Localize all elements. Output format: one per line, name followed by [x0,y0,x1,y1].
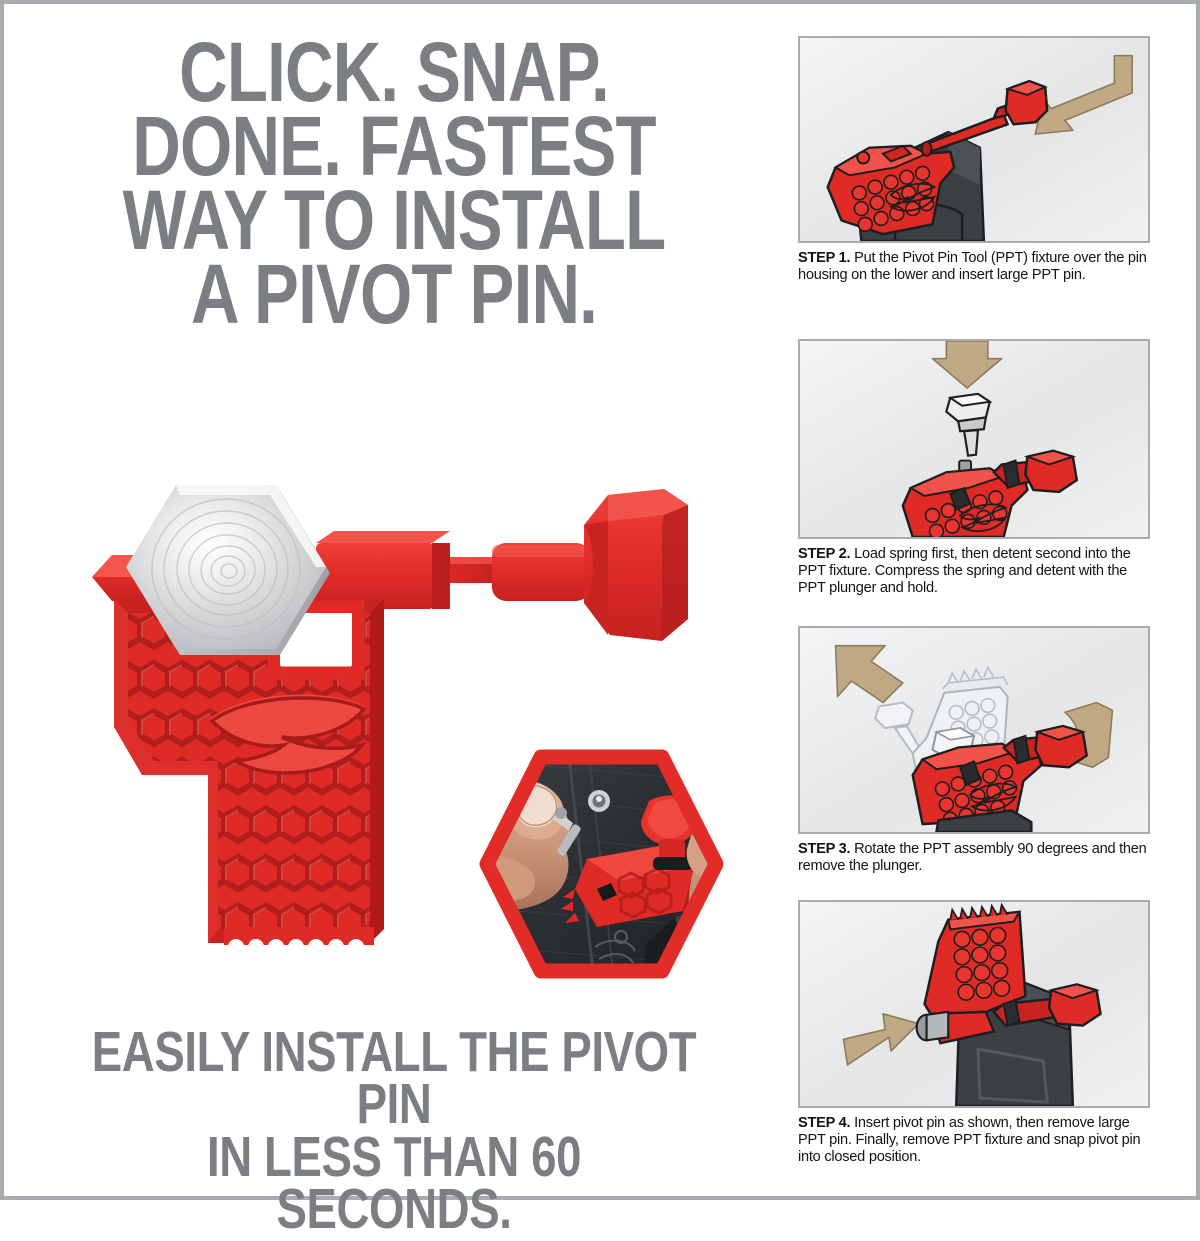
step-item-2: STEP 2. Load spring first, then detent s… [798,339,1154,597]
step-4-caption: STEP 4. Insert pivot pin as shown, then … [798,1115,1150,1166]
step-1-illustration [798,36,1150,243]
poster-inner: CLICK. SNAP. DONE. FASTEST WAY TO INSTAL… [14,14,1194,1194]
step-2-illustration [798,339,1150,539]
step-4-text: Insert pivot pin as shown, then remove l… [798,1115,1140,1165]
step-3-text: Rotate the PPT assembly 90 degrees and t… [798,841,1147,874]
step-3-illustration [798,626,1150,834]
step-item-1: STEP 1. Put the Pivot Pin Tool (PPT) fix… [798,36,1154,284]
step-2-caption: STEP 2. Load spring first, then detent s… [798,546,1150,597]
pivot-pin [917,1012,949,1040]
infographic-poster: CLICK. SNAP. DONE. FASTEST WAY TO INSTAL… [0,0,1200,1200]
step-3-label: STEP 3. [798,841,850,857]
step-item-3: STEP 3. Rotate the PPT assembly 90 degre… [798,626,1154,875]
left-column: CLICK. SNAP. DONE. FASTEST WAY TO INSTAL… [14,14,784,1194]
step-1-label: STEP 1. [798,250,850,266]
steps-column: STEP 1. Put the Pivot Pin Tool (PPT) fix… [798,14,1194,1194]
inset-photo-hexagon [469,739,734,989]
page-subtitle: EASILY INSTALL THE PIVOT PIN IN LESS THA… [90,1026,698,1236]
step-1-text: Put the Pivot Pin Tool (PPT) fixture ove… [798,250,1147,283]
step-item-4: STEP 4. Insert pivot pin as shown, then … [798,900,1154,1166]
step-1-caption: STEP 1. Put the Pivot Pin Tool (PPT) fix… [798,250,1150,284]
step-3-caption: STEP 3. Rotate the PPT assembly 90 degre… [798,841,1150,875]
step-4-label: STEP 4. [798,1115,850,1131]
shirt-snap-button [588,790,610,812]
step-2-label: STEP 2. [798,546,850,562]
page-title: CLICK. SNAP. DONE. FASTEST WAY TO INSTAL… [90,36,698,332]
step-4-illustration [798,900,1150,1108]
